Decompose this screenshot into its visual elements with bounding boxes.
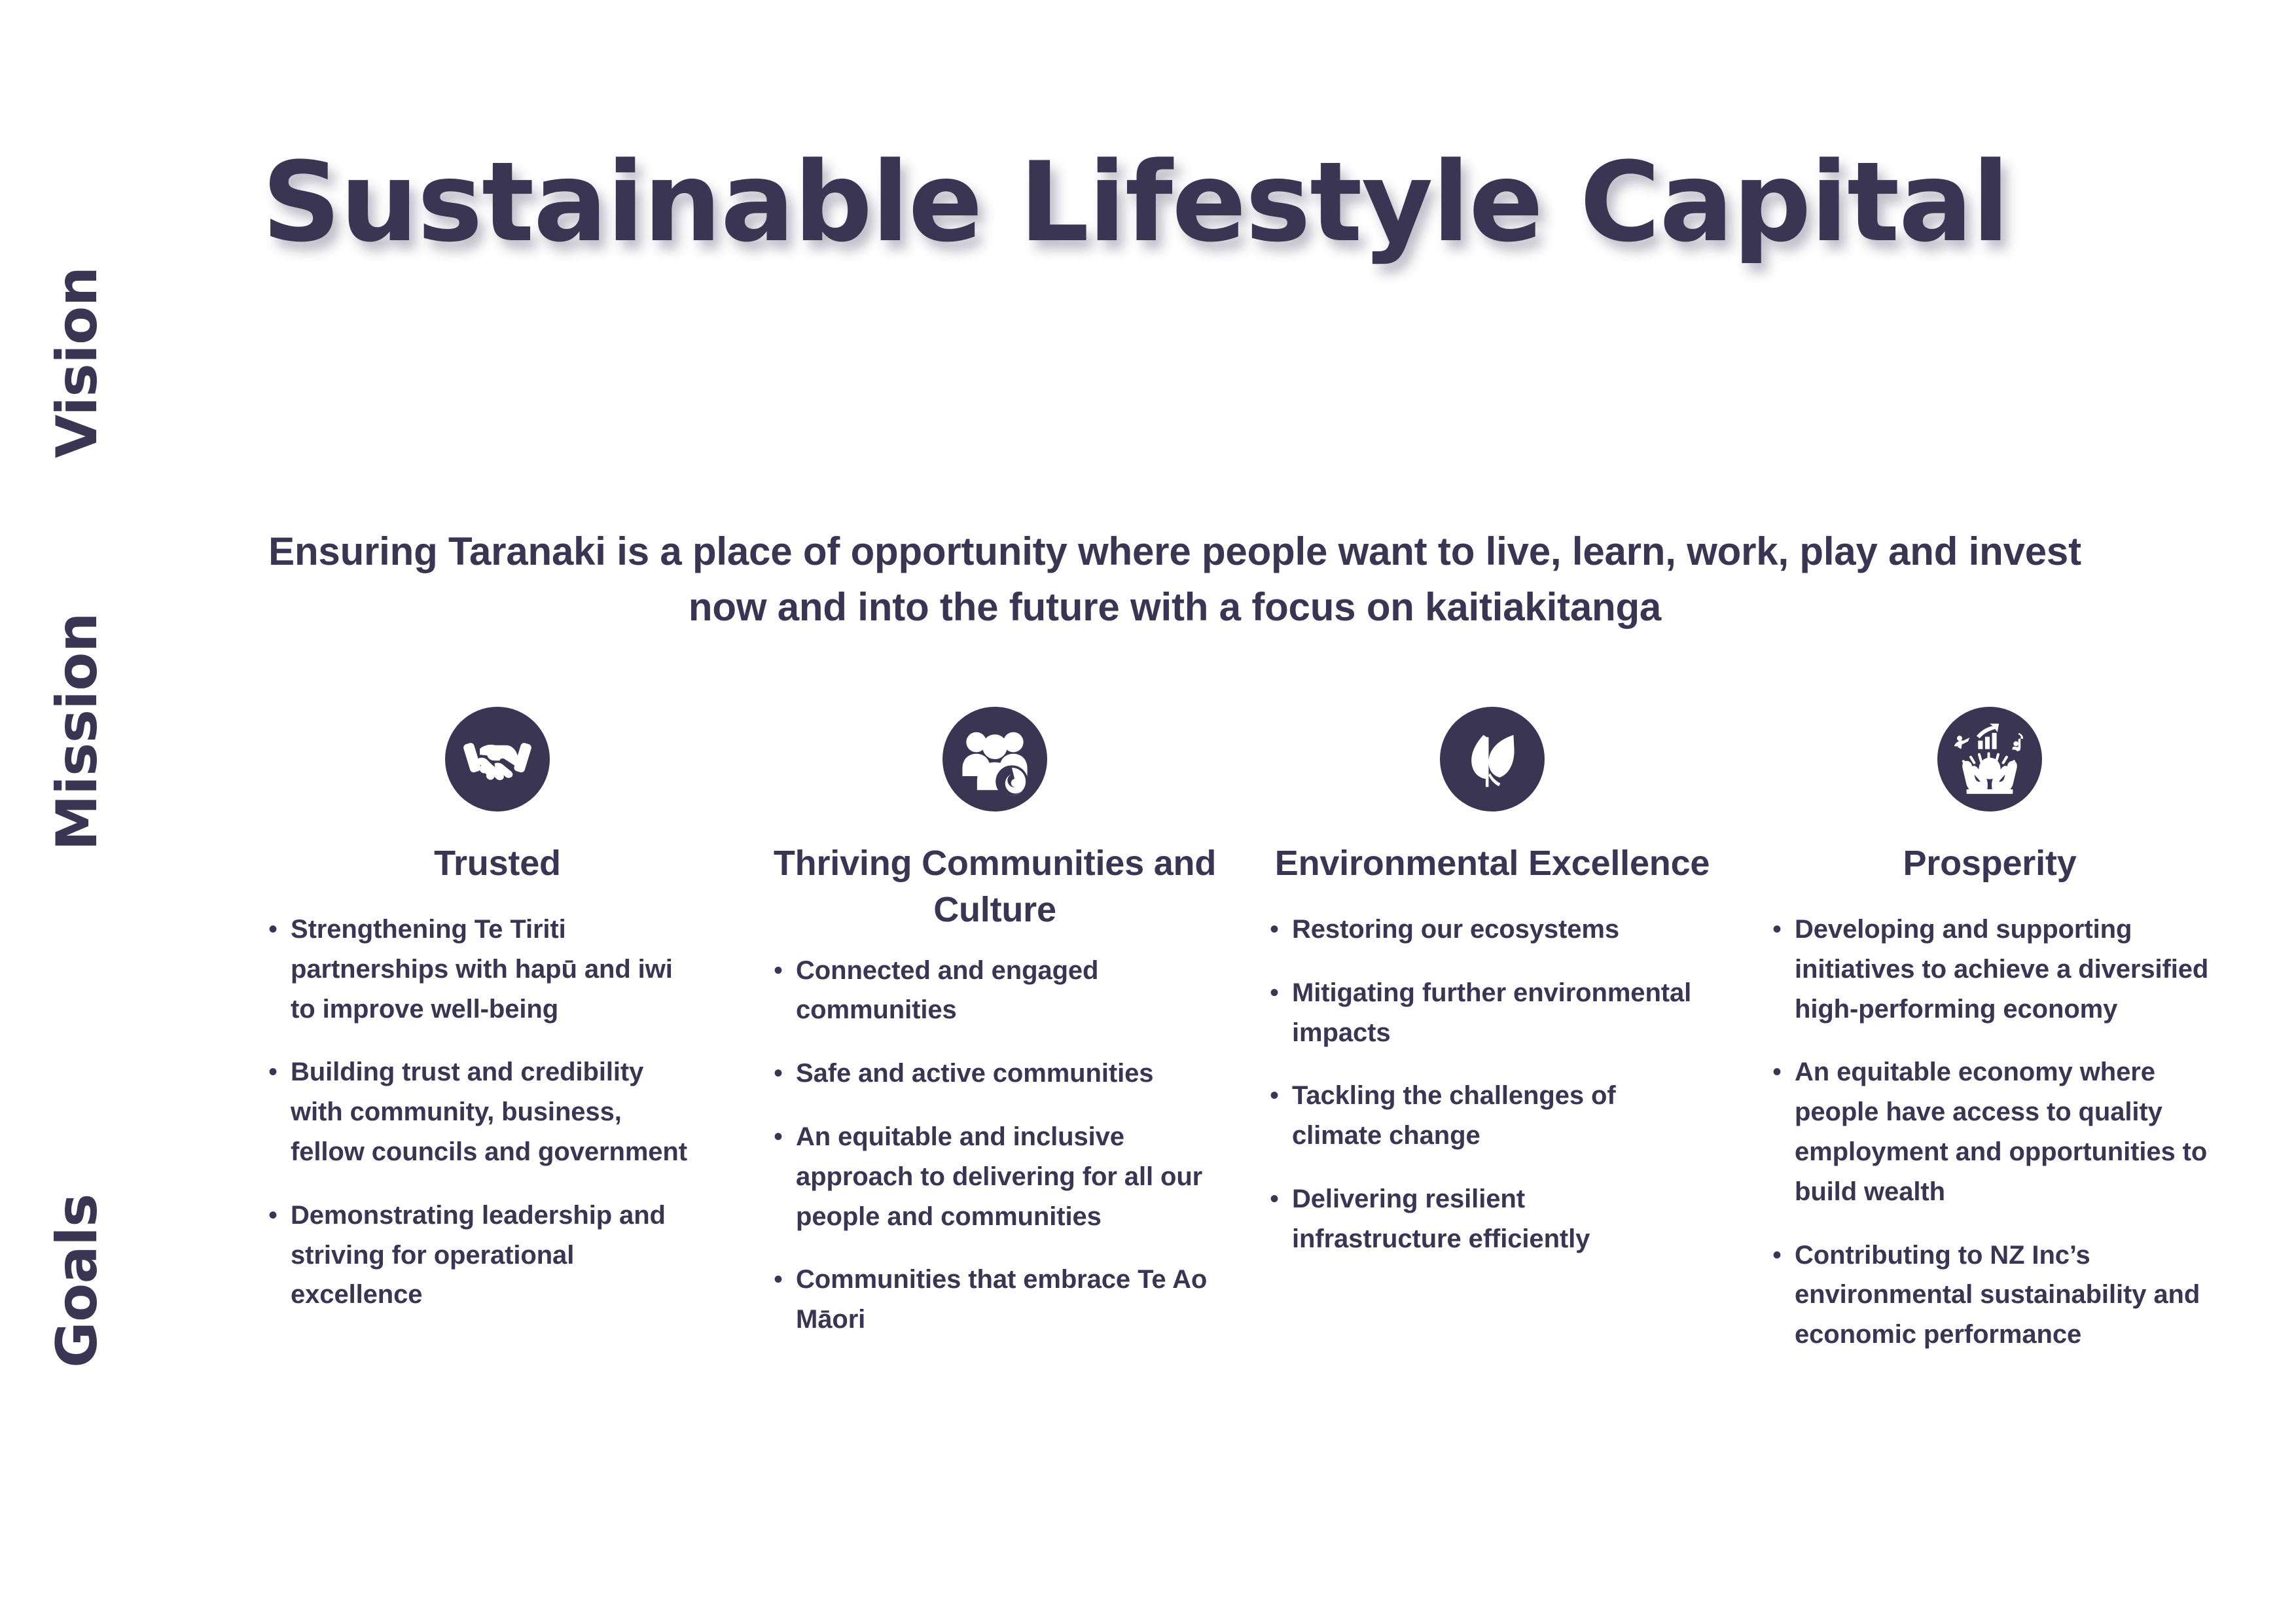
rail-label-vision: Vision bbox=[45, 267, 110, 459]
goal-bullet-text: An equitable and inclusive approach to d… bbox=[796, 1117, 1217, 1236]
bullet-glyph: • bbox=[774, 1117, 796, 1156]
bullet-glyph: • bbox=[1270, 910, 1292, 949]
goal-bullet-text: Developing and supporting initiatives to… bbox=[1795, 910, 2227, 1029]
goal-bullet-list: • Restoring our ecosystems • Mitigating … bbox=[1244, 910, 1741, 1283]
goal-bullet: • Strengthening Te Tiriti partnerships w… bbox=[268, 910, 687, 1029]
goal-bullet-list: • Developing and supporting initiatives … bbox=[1741, 910, 2238, 1378]
bullet-glyph: • bbox=[774, 1054, 796, 1093]
goal-column-prosperity: Prosperity • Developing and supporting i… bbox=[1741, 707, 2238, 1378]
goal-bullet-text: Delivering resilient infrastructure effi… bbox=[1292, 1179, 1695, 1259]
goal-bullet: • Tackling the challenges of climate cha… bbox=[1270, 1076, 1695, 1156]
goal-bullet-text: An equitable economy where people have a… bbox=[1795, 1052, 2227, 1211]
bullet-glyph: • bbox=[268, 1052, 291, 1092]
mission-statement: Ensuring Taranaki is a place of opportun… bbox=[262, 524, 2088, 635]
bullet-glyph: • bbox=[1772, 910, 1795, 949]
goal-bullet-list: • Strengthening Te Tiriti partnerships w… bbox=[249, 910, 746, 1338]
goal-bullet: • Restoring our ecosystems bbox=[1270, 910, 1695, 950]
goal-bullet-text: Communities that embrace Te Ao Māori bbox=[796, 1260, 1217, 1340]
goal-bullet: • Delivering resilient infrastructure ef… bbox=[1270, 1179, 1695, 1259]
goal-bullet-list: • Connected and engaged communities • Sa… bbox=[746, 951, 1244, 1363]
goal-bullet-text: Tackling the challenges of climate chang… bbox=[1292, 1076, 1695, 1156]
goal-bullet-text: Mitigating further environmental impacts bbox=[1292, 973, 1695, 1053]
goal-column-trusted: Trusted • Strengthening Te Tiriti partne… bbox=[249, 707, 746, 1338]
bullet-glyph: • bbox=[1270, 1179, 1292, 1219]
goal-column-title: Thriving Communities and Culture bbox=[746, 840, 1244, 934]
goal-columns: Trusted • Strengthening Te Tiriti partne… bbox=[249, 707, 2265, 1378]
bullet-glyph: • bbox=[1270, 973, 1292, 1012]
rail-label-goals: Goals bbox=[45, 1194, 110, 1368]
strategy-poster: Vision Mission Goals Sustainable Lifesty… bbox=[0, 0, 2296, 1623]
hands-prosperity-icon bbox=[1937, 707, 2042, 811]
goal-column-title: Prosperity bbox=[1903, 840, 2076, 893]
vision-title: Sustainable Lifestyle Capital bbox=[262, 141, 2193, 264]
rail-label-mission: Mission bbox=[45, 613, 110, 851]
bullet-glyph: • bbox=[774, 951, 796, 990]
goal-bullet: • Mitigating further environmental impac… bbox=[1270, 973, 1695, 1053]
goal-bullet: • Developing and supporting initiatives … bbox=[1772, 910, 2227, 1029]
goal-bullet: • Building trust and credibility with co… bbox=[268, 1052, 687, 1171]
goal-bullet-text: Connected and engaged communities bbox=[796, 951, 1217, 1031]
leaves-icon bbox=[1440, 707, 1545, 811]
goal-bullet: • Contributing to NZ Inc’s environmental… bbox=[1772, 1236, 2227, 1355]
goal-column-title: Trusted bbox=[434, 840, 561, 893]
goal-bullet-text: Strengthening Te Tiriti partnerships wit… bbox=[291, 910, 687, 1029]
goal-bullet-text: Building trust and credibility with comm… bbox=[291, 1052, 687, 1171]
goal-bullet: • Demonstrating leadership and striving … bbox=[268, 1196, 687, 1315]
goal-bullet-text: Contributing to NZ Inc’s environmental s… bbox=[1795, 1236, 2227, 1355]
people-koru-icon bbox=[942, 707, 1047, 811]
goal-bullet: • An equitable economy where people have… bbox=[1772, 1052, 2227, 1211]
handshake-icon bbox=[445, 707, 550, 811]
goal-bullet: • Safe and active communities bbox=[774, 1054, 1217, 1094]
goal-bullet-text: Safe and active communities bbox=[796, 1054, 1153, 1094]
goal-column-thriving-communities: Thriving Communities and Culture • Conne… bbox=[746, 707, 1244, 1363]
bullet-glyph: • bbox=[1772, 1236, 1795, 1275]
goal-bullet: • Communities that embrace Te Ao Māori bbox=[774, 1260, 1217, 1340]
bullet-glyph: • bbox=[268, 910, 291, 949]
bullet-glyph: • bbox=[1270, 1076, 1292, 1115]
goal-bullet: • Connected and engaged communities bbox=[774, 951, 1217, 1031]
goal-column-environmental-excellence: Environmental Excellence • Restoring our… bbox=[1244, 707, 1741, 1283]
goal-bullet-text: Restoring our ecosystems bbox=[1292, 910, 1619, 950]
bullet-glyph: • bbox=[268, 1196, 291, 1235]
goal-bullet: • An equitable and inclusive approach to… bbox=[774, 1117, 1217, 1236]
bullet-glyph: • bbox=[1772, 1052, 1795, 1092]
goal-column-title: Environmental Excellence bbox=[1275, 840, 1710, 893]
bullet-glyph: • bbox=[774, 1260, 796, 1299]
goal-bullet-text: Demonstrating leadership and striving fo… bbox=[291, 1196, 687, 1315]
